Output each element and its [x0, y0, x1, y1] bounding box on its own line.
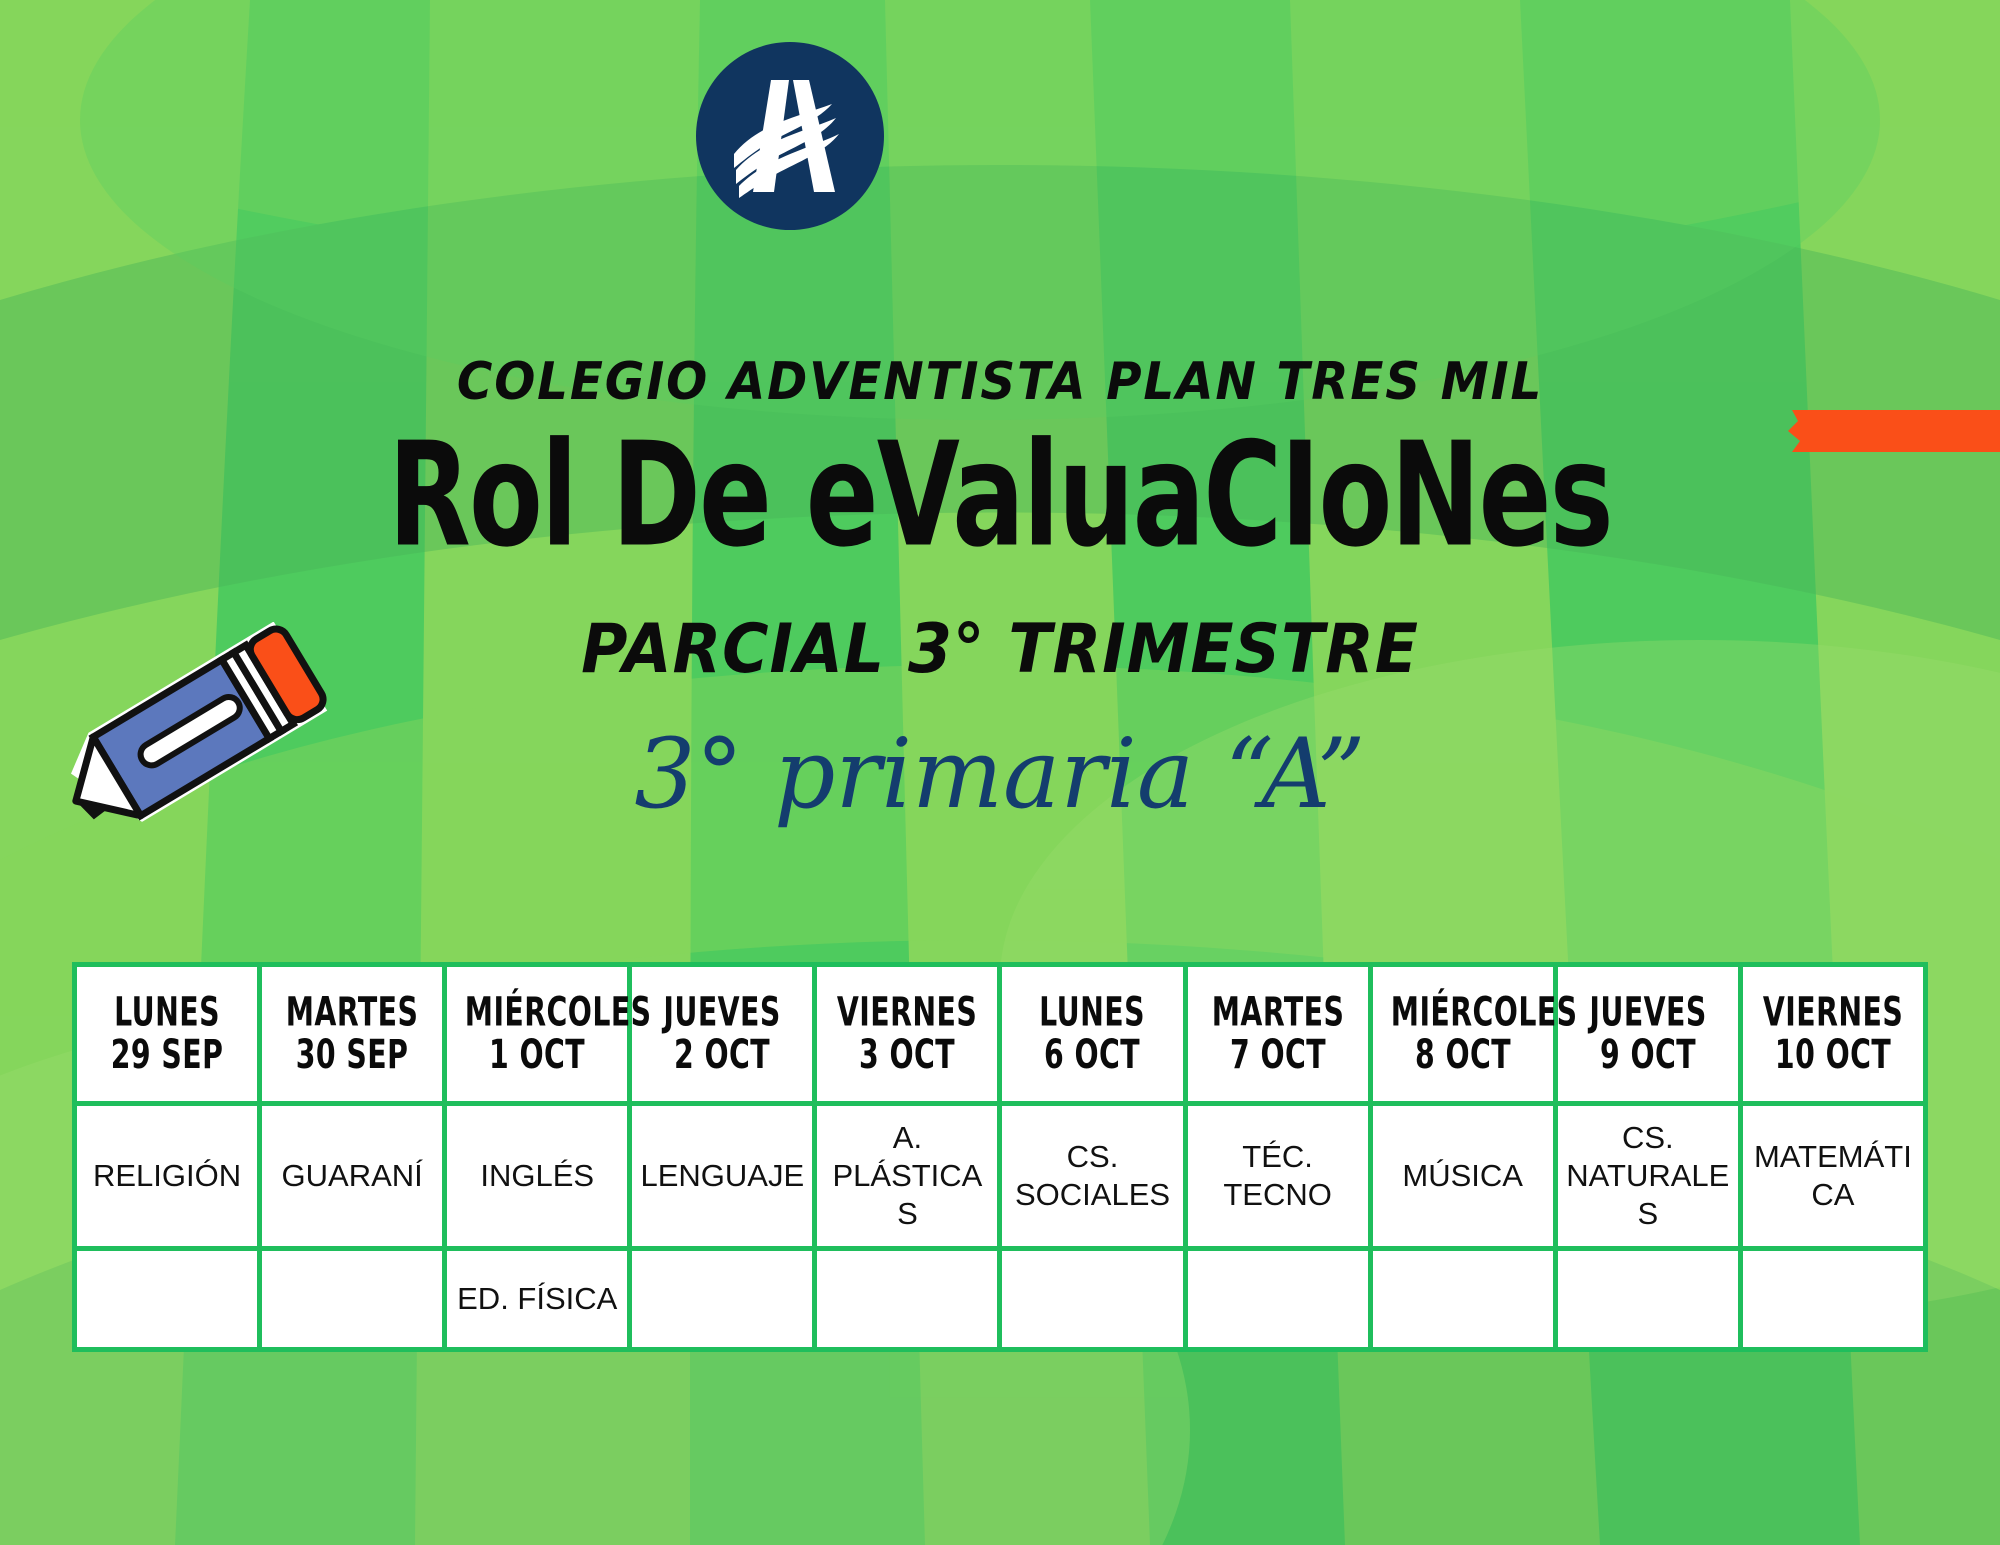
schedule-header-cell: JUEVES9 OCT	[1555, 965, 1740, 1104]
header-date: 7 OCT	[1205, 1034, 1350, 1076]
subject-cell	[1185, 1249, 1370, 1350]
subject-cell	[75, 1249, 260, 1350]
subject-cell	[1740, 1249, 1925, 1350]
subject-cell	[630, 1249, 815, 1350]
header-date: 6 OCT	[1020, 1034, 1165, 1076]
header-day: MARTES	[280, 992, 425, 1034]
schedule-header-cell: LUNES6 OCT	[1000, 965, 1185, 1104]
subject-cell: ED. FÍSICA	[445, 1249, 630, 1350]
schedule-header-cell: MARTES30 SEP	[260, 965, 445, 1104]
subject-cell: A. PLÁSTICAS	[815, 1104, 1000, 1249]
subject-cell: GUARANÍ	[260, 1104, 445, 1249]
schedule-header-cell: MIÉRCOLES8 OCT	[1370, 965, 1555, 1104]
schedule-header-cell: MIÉRCOLES1 OCT	[445, 965, 630, 1104]
header-day: MIÉRCOLES	[465, 992, 610, 1034]
subject-cell	[815, 1249, 1000, 1350]
header-day: LUNES	[95, 992, 240, 1034]
subject-cell: MÚSICA	[1370, 1104, 1555, 1249]
subject-cell: TÉC. TECNO	[1185, 1104, 1370, 1249]
header-date: 10 OCT	[1761, 1034, 1906, 1076]
school-logo	[696, 42, 884, 230]
schedule-header-cell: LUNES29 SEP	[75, 965, 260, 1104]
header-day: MARTES	[1205, 992, 1350, 1034]
schedule-header-cell: VIERNES3 OCT	[815, 965, 1000, 1104]
header-date: 9 OCT	[1576, 1034, 1721, 1076]
header-day: VIERNES	[835, 992, 980, 1034]
school-name: COLEGIO ADVENTISTA PLAN TRES MIL	[70, 352, 1930, 412]
washi-tape-icon	[1778, 408, 2000, 454]
page-title: Rol De eValuaCIoNes	[120, 423, 1880, 567]
poster-root: COLEGIO ADVENTISTA PLAN TRES MIL Rol De …	[0, 0, 2000, 1545]
subject-cell: MATEMÁTICA	[1740, 1104, 1925, 1249]
header-day: MIÉRCOLES	[1390, 992, 1535, 1034]
header-day: JUEVES	[650, 992, 795, 1034]
subject-cell	[260, 1249, 445, 1350]
pencil-icon	[46, 622, 346, 852]
header-date: 1 OCT	[465, 1034, 610, 1076]
schedule-header-cell: JUEVES2 OCT	[630, 965, 815, 1104]
schedule-header-row: LUNES29 SEP MARTES30 SEP MIÉRCOLES1 OCT …	[75, 965, 1926, 1104]
header-date: 2 OCT	[650, 1034, 795, 1076]
page-subtitle: PARCIAL 3° TRIMESTRE	[70, 616, 1930, 684]
evaluation-schedule-table: LUNES29 SEP MARTES30 SEP MIÉRCOLES1 OCT …	[72, 962, 1928, 1352]
subject-cell: INGLÉS	[445, 1104, 630, 1249]
header-day: JUEVES	[1576, 992, 1721, 1034]
subject-cell: CS. SOCIALES	[1000, 1104, 1185, 1249]
header-day: VIERNES	[1761, 992, 1906, 1034]
table-row: ED. FÍSICA	[75, 1249, 1926, 1350]
subject-cell: LENGUAJE	[630, 1104, 815, 1249]
schedule-header-cell: VIERNES10 OCT	[1740, 965, 1925, 1104]
header-day: LUNES	[1020, 992, 1165, 1034]
subject-cell	[1370, 1249, 1555, 1350]
header-date: 30 SEP	[280, 1034, 425, 1076]
header-date: 3 OCT	[835, 1034, 980, 1076]
subject-cell: RELIGIÓN	[75, 1104, 260, 1249]
header-date: 8 OCT	[1390, 1034, 1535, 1076]
subject-cell: CS. NATURALES	[1555, 1104, 1740, 1249]
schedule-header-cell: MARTES7 OCT	[1185, 965, 1370, 1104]
subject-cell	[1555, 1249, 1740, 1350]
subject-cell	[1000, 1249, 1185, 1350]
header-date: 29 SEP	[95, 1034, 240, 1076]
table-row: RELIGIÓN GUARANÍ INGLÉS LENGUAJE A. PLÁS…	[75, 1104, 1926, 1249]
